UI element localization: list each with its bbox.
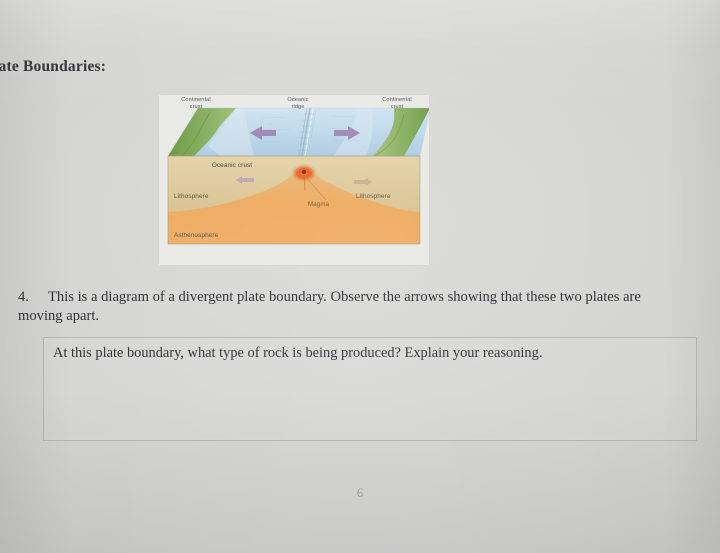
question-item: 4. This is a diagram of a divergent plat… xyxy=(18,288,684,326)
surface-plan-view xyxy=(168,108,430,156)
page-number: 6 xyxy=(0,486,720,501)
divergent-plate-boundary-illustration xyxy=(158,94,430,266)
figure-label-magma: Magma xyxy=(308,201,352,208)
figure-label-oceanic-crust: Oceanic crust xyxy=(196,162,268,169)
answer-prompt-text: At this plate boundary, what type of roc… xyxy=(53,344,653,364)
figure-label-continental-crust-left: Continental crust xyxy=(164,97,228,111)
answer-textbox[interactable]: At this plate boundary, what type of roc… xyxy=(43,337,697,441)
page-title: late Boundaries: xyxy=(0,58,254,76)
paper-sheen-overlay xyxy=(0,0,720,553)
figure-label-lithosphere-left: Lithosphere xyxy=(174,193,236,200)
divergent-plate-boundary-figure: Continental crust Oceanic ridge Continen… xyxy=(158,94,430,266)
figure-label-lithosphere-right: Lithosphere xyxy=(356,193,418,200)
figure-label-asthenosphere: Asthenosphere xyxy=(174,232,256,239)
worksheet-page: late Boundaries: xyxy=(0,0,720,553)
cross-section-block xyxy=(158,156,420,244)
question-number: 4. xyxy=(18,288,44,307)
figure-label-continental-crust-right: Continental crust xyxy=(366,97,428,111)
figure-label-oceanic-ridge: Oceanic ridge xyxy=(272,97,324,111)
question-text: This is a diagram of a divergent plate b… xyxy=(18,289,641,324)
